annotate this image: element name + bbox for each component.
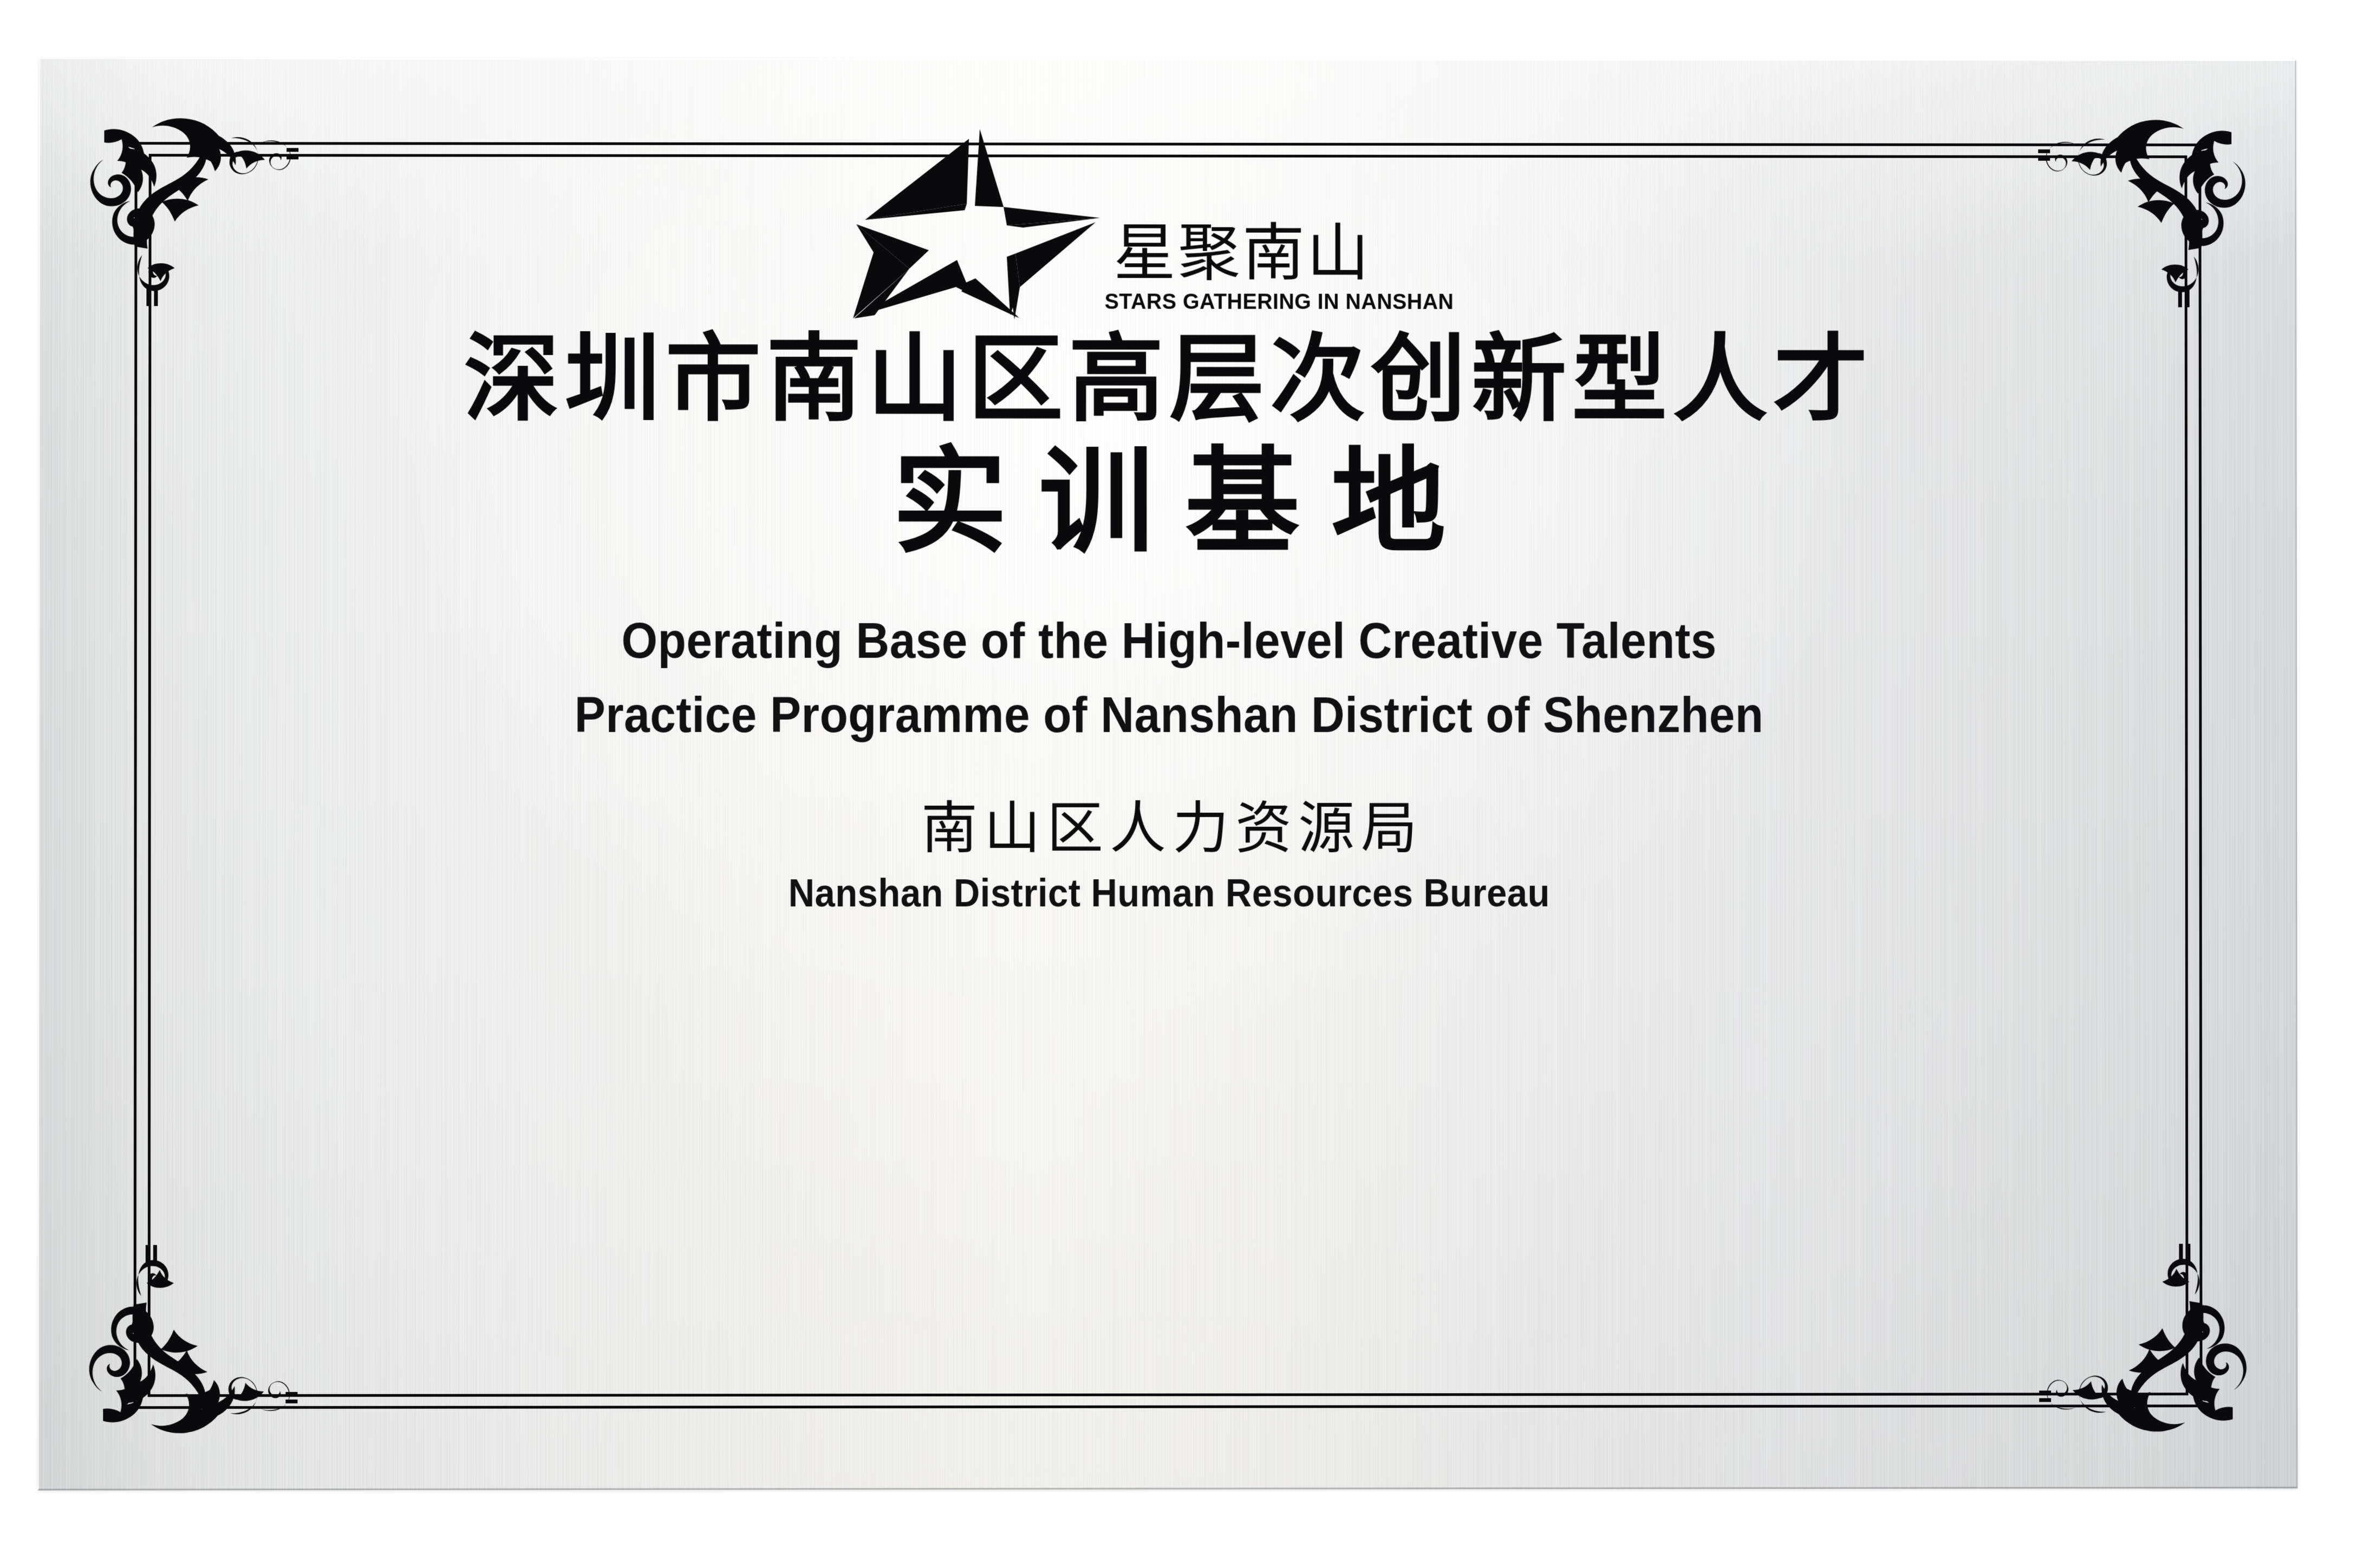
program-logo: 星聚南山 STARS GATHERING IN NANSHAN	[828, 127, 1510, 317]
award-plaque: 星聚南山 STARS GATHERING IN NANSHAN 深圳市南山区高层…	[38, 58, 2298, 1491]
subtitle-english-line-1: Operating Base of the High-level Creativ…	[621, 608, 1716, 674]
logo-chinese-name: 星聚南山	[1099, 222, 1386, 284]
five-pointed-star-icon	[841, 125, 1112, 319]
subtitle-english-line-2: Practice Programme of Nanshan District o…	[574, 682, 1763, 748]
plaque-inscription: 星聚南山 STARS GATHERING IN NANSHAN 深圳市南山区高层…	[38, 58, 2298, 1491]
issuer-english-name: Nanshan District Human Resources Bureau	[789, 871, 1550, 916]
logo-wordmark: 星聚南山 STARS GATHERING IN NANSHAN	[1099, 222, 1386, 314]
issuer-chinese-name: 南山区人力资源局	[915, 798, 1424, 859]
title-chinese-line-2: 实训基地	[861, 441, 1477, 565]
logo-english-name: STARS GATHERING IN NANSHAN	[1105, 289, 1380, 314]
title-chinese-line-1: 深圳市南山区高层次创新型人才	[464, 328, 1873, 432]
